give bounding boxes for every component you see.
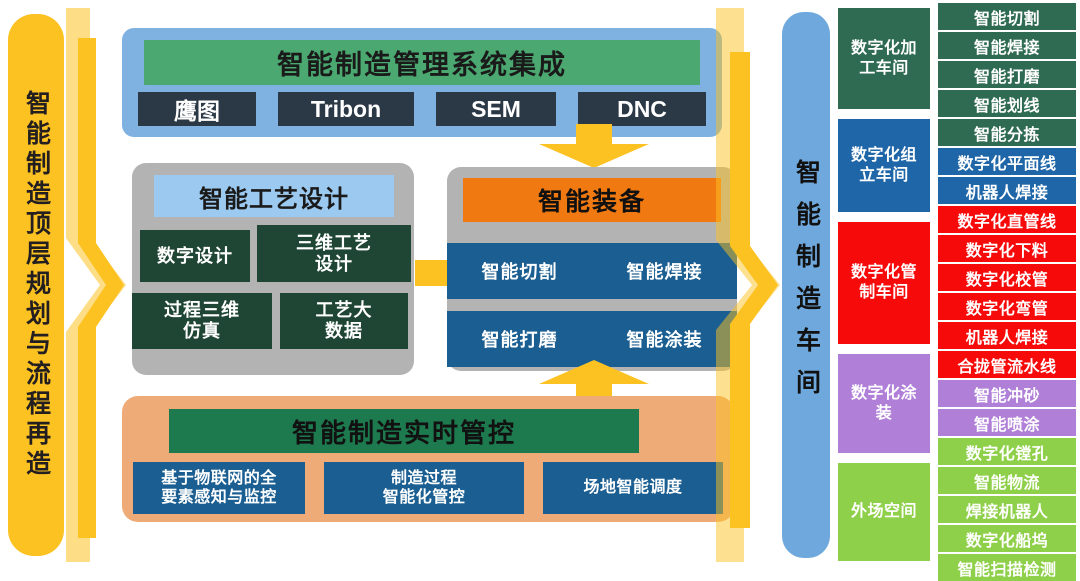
workshop-item[interactable]: 智能扫描检测 <box>938 554 1076 581</box>
workshop-item[interactable]: 焊接机器人 <box>938 496 1076 523</box>
equipment-row-2: 智能打磨 智能涂装 <box>447 311 737 367</box>
workshop-item[interactable]: 合拢管流水线 <box>938 351 1076 378</box>
workshop-item[interactable]: 智能物流 <box>938 467 1076 494</box>
workshop-item[interactable]: 数字化直管线 <box>938 206 1076 233</box>
left-flow-arrow-icon <box>66 8 128 562</box>
control-panel: 智能制造实时管控 基于物联网的全要素感知与监控 制造过程智能化管控 场地智能调度 <box>122 396 734 522</box>
control-item-process-control[interactable]: 制造过程智能化管控 <box>324 462 524 514</box>
workshop-category-1[interactable]: 数字化组立车间 <box>838 119 930 212</box>
workshop-item[interactable]: 智能划线 <box>938 90 1076 117</box>
workshop-category-3[interactable]: 数字化涂装 <box>838 354 930 453</box>
control-item-site-scheduling[interactable]: 场地智能调度 <box>543 462 723 514</box>
left-pillar-label: 智能制造顶层规划与流程再造 <box>24 90 49 480</box>
tag-yingtu[interactable]: 鹰图 <box>138 92 256 126</box>
tag-sem[interactable]: SEM <box>436 92 556 126</box>
workshop-category-0[interactable]: 数字化加工车间 <box>838 8 930 109</box>
equipment-row-1: 智能切割 智能焊接 <box>447 243 737 299</box>
tag-tribon[interactable]: Tribon <box>278 92 414 126</box>
design-panel-title: 智能工艺设计 <box>154 175 394 217</box>
control-panel-items: 基于物联网的全要素感知与监控 制造过程智能化管控 场地智能调度 <box>133 462 723 514</box>
workshop-item[interactable]: 数字化平面线 <box>938 148 1076 175</box>
workshop-item[interactable]: 智能喷涂 <box>938 409 1076 436</box>
control-item-iot-sensing[interactable]: 基于物联网的全要素感知与监控 <box>133 462 305 514</box>
right-pillar: 智能制造车间 <box>782 12 830 558</box>
equipment-panel-title: 智能装备 <box>463 178 721 222</box>
design-item-3d-simulation[interactable]: 过程三维仿真 <box>132 293 272 349</box>
workshop-item[interactable]: 智能打磨 <box>938 61 1076 88</box>
equipment-panel: 智能装备 智能切割 智能焊接 智能打磨 智能涂装 <box>447 167 737 371</box>
left-pillar: 智能制造顶层规划与流程再造 <box>8 14 64 556</box>
design-item-digital-design[interactable]: 数字设计 <box>140 230 250 282</box>
top-panel: 智能制造管理系统集成 鹰图 Tribon SEM DNC <box>122 28 722 137</box>
design-item-process-bigdata[interactable]: 工艺大数据 <box>280 293 408 349</box>
tag-dnc[interactable]: DNC <box>578 92 706 126</box>
workshop-item[interactable]: 机器人焊接 <box>938 322 1076 349</box>
workshop-item[interactable]: 数字化弯管 <box>938 293 1076 320</box>
workshop-item[interactable]: 智能分拣 <box>938 119 1076 146</box>
workshop-item[interactable]: 数字化下料 <box>938 235 1076 262</box>
workshop-item[interactable]: 机器人焊接 <box>938 177 1076 204</box>
workshop-item[interactable]: 智能冲砂 <box>938 380 1076 407</box>
design-item-3d-process-design[interactable]: 三维工艺设计 <box>257 225 411 282</box>
control-panel-title: 智能制造实时管控 <box>169 409 639 453</box>
right-pillar-label: 智能制造车间 <box>794 159 819 411</box>
workshop-item[interactable]: 智能切割 <box>938 3 1076 30</box>
workshop-item[interactable]: 数字化镗孔 <box>938 438 1076 465</box>
workshop-item[interactable]: 智能焊接 <box>938 32 1076 59</box>
arrow-top-to-equipment-icon <box>539 124 649 168</box>
diagram-canvas: 智能制造顶层规划与流程再造 智能制造管理系统集成 鹰图 Tribon SEM D… <box>0 0 1080 569</box>
workshop-item[interactable]: 数字化校管 <box>938 264 1076 291</box>
workshop-category-4[interactable]: 外场空间 <box>838 463 930 561</box>
workshop-category-2[interactable]: 数字化管制车间 <box>838 222 930 344</box>
equipment-item-smart-grinding[interactable]: 智能打磨 <box>447 326 592 352</box>
equipment-item-smart-cutting[interactable]: 智能切割 <box>447 258 592 284</box>
design-panel: 智能工艺设计 数字设计 三维工艺设计 过程三维仿真 工艺大数据 <box>132 163 414 375</box>
top-panel-title: 智能制造管理系统集成 <box>144 40 700 85</box>
workshop-item[interactable]: 数字化船坞 <box>938 525 1076 552</box>
right-flow-arrow-icon <box>716 8 782 562</box>
top-panel-tags: 鹰图 Tribon SEM DNC <box>138 92 706 126</box>
